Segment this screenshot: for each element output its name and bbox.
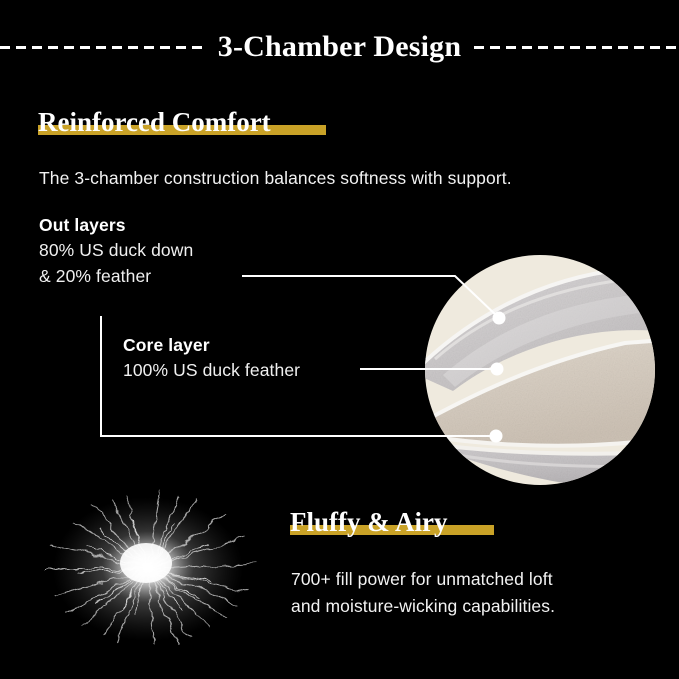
section-description-fluffy: 700+ fill power for unmatched loft and m… bbox=[291, 566, 661, 619]
header-dashed-rule-left bbox=[0, 46, 205, 49]
callout-line-2-out-layers: & 20% feather bbox=[39, 264, 193, 289]
product-feature-graphic: 3-Chamber Design Reinforced Comfort The … bbox=[0, 0, 679, 679]
callout-title-core-layer: Core layer bbox=[123, 333, 300, 358]
callout-line-1-out-layers: 80% US duck down bbox=[39, 238, 193, 263]
cross-section-svg bbox=[425, 255, 655, 485]
callout-title-out-layers: Out layers bbox=[39, 213, 193, 238]
header-title-row: 3-Chamber Design bbox=[0, 26, 679, 68]
section-heading-reinforced-comfort: Reinforced Comfort bbox=[38, 108, 271, 136]
fluffy-desc-line-1: 700+ fill power for unmatched loft bbox=[291, 566, 661, 593]
callout-core-layer: Core layer 100% US duck feather bbox=[123, 333, 300, 384]
down-core-hotspot bbox=[120, 543, 172, 583]
down-cluster-svg bbox=[30, 485, 270, 650]
fluffy-desc-line-2: and moisture-wicking capabilities. bbox=[291, 593, 661, 620]
callout-out-layers: Out layers 80% US duck down & 20% feathe… bbox=[39, 213, 193, 289]
callout-line-1-core-layer: 100% US duck feather bbox=[123, 358, 300, 383]
section-heading-text: Fluffy & Airy bbox=[290, 508, 447, 536]
section-description-comfort: The 3-chamber construction balances soft… bbox=[39, 165, 649, 192]
down-cluster-photo bbox=[30, 485, 270, 650]
pillow-cross-section-illustration bbox=[425, 255, 655, 485]
section-heading-fluffy-airy: Fluffy & Airy bbox=[290, 508, 447, 536]
page-title: 3-Chamber Design bbox=[218, 32, 461, 62]
section-heading-text: Reinforced Comfort bbox=[38, 108, 271, 136]
header-dashed-rule-right bbox=[474, 46, 679, 49]
